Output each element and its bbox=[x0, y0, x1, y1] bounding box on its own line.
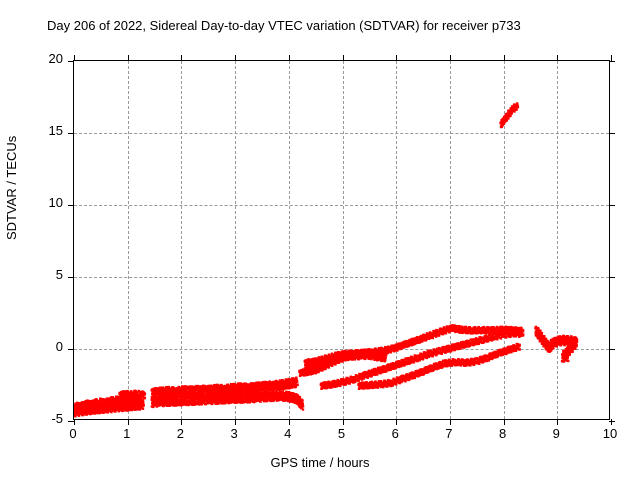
x-axis-tick-label: 4 bbox=[284, 426, 291, 441]
y-axis-title: SDTVAR / TECUs bbox=[4, 136, 19, 240]
x-axis-tick-label: 10 bbox=[603, 426, 617, 441]
x-axis-tick-label: 9 bbox=[553, 426, 560, 441]
x-axis-tick-label: 1 bbox=[123, 426, 130, 441]
plot-frame bbox=[73, 60, 610, 420]
plot-title: Day 206 of 2022, Sidereal Day-to-day VTE… bbox=[47, 18, 521, 33]
x-axis-tick-label: 6 bbox=[392, 426, 399, 441]
plot-root: Day 206 of 2022, Sidereal Day-to-day VTE… bbox=[0, 0, 640, 480]
x-axis-tick bbox=[611, 419, 612, 425]
x-axis-tick-label: 5 bbox=[338, 426, 345, 441]
x-axis-tick-label: 3 bbox=[230, 426, 237, 441]
x-axis-tick-label: 8 bbox=[499, 426, 506, 441]
y-axis-tick-label: 20 bbox=[0, 51, 63, 66]
x-axis-tick bbox=[611, 55, 612, 61]
data-series bbox=[534, 326, 578, 363]
data-series bbox=[304, 348, 388, 370]
y-axis-tick-label: 5 bbox=[0, 267, 63, 282]
x-axis-tick-label: 7 bbox=[445, 426, 452, 441]
data-series bbox=[118, 390, 146, 400]
y-axis-tick-label: 0 bbox=[0, 339, 63, 354]
x-axis-tick-label: 0 bbox=[69, 426, 76, 441]
data-series bbox=[499, 102, 519, 128]
data-series bbox=[298, 324, 524, 377]
x-axis-title: GPS time / hours bbox=[0, 455, 640, 470]
x-axis-tick-label: 2 bbox=[177, 426, 184, 441]
y-axis-tick bbox=[609, 421, 615, 422]
y-axis-tick-label: -5 bbox=[0, 411, 63, 426]
data-series-layer bbox=[74, 61, 611, 421]
